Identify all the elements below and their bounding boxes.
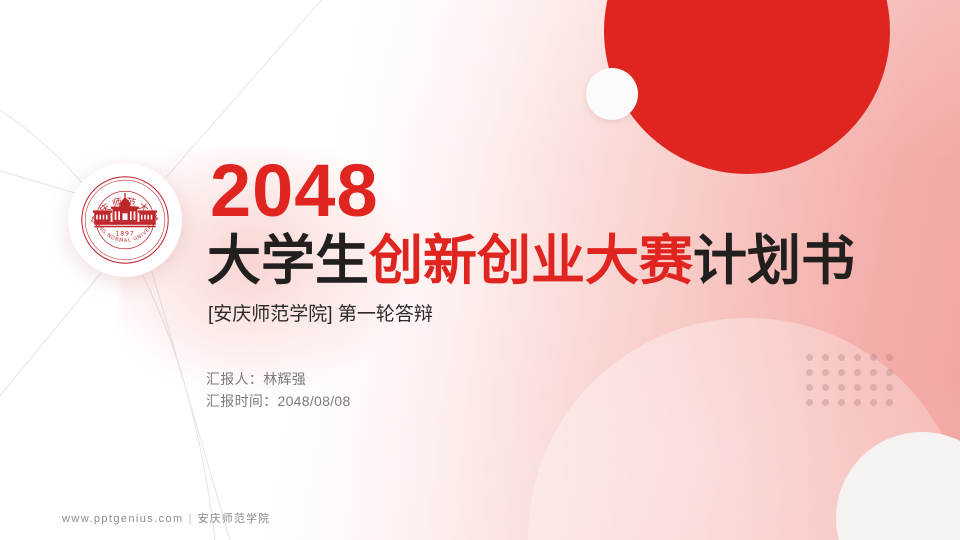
presentation-slide: 安庆师范大学 bbox=[0, 0, 960, 540]
presentation-date: 汇报时间：2048/08/08 bbox=[206, 390, 351, 412]
presenter-name: 汇报人：林辉强 bbox=[206, 368, 351, 390]
slide-year: 2048 bbox=[210, 152, 379, 230]
footer-website[interactable]: www.pptgenius.com bbox=[62, 513, 184, 525]
slide-subtitle: [安庆师范学院] 第一轮答辩 bbox=[208, 302, 433, 328]
slide-title: 大学生创新创业大赛计划书 bbox=[207, 230, 855, 292]
decor-dot-grid bbox=[806, 354, 902, 414]
footer-separator: | bbox=[189, 513, 193, 525]
decor-white-dot bbox=[586, 68, 638, 120]
footer-organization: 安庆师范学院 bbox=[198, 513, 271, 525]
slide-footer: www.pptgenius.com|安庆师范学院 bbox=[62, 511, 270, 527]
university-seal-icon: 安庆师范大学 bbox=[77, 172, 173, 268]
title-prefix: 大学生 bbox=[207, 231, 369, 291]
presenter-info: 汇报人：林辉强 汇报时间：2048/08/08 bbox=[206, 368, 351, 412]
title-highlight: 创新创业大赛 bbox=[369, 231, 693, 291]
university-logo: 安庆师范大学 bbox=[68, 163, 182, 277]
seal-year: 1897 bbox=[116, 230, 135, 237]
title-suffix: 计划书 bbox=[693, 231, 855, 291]
